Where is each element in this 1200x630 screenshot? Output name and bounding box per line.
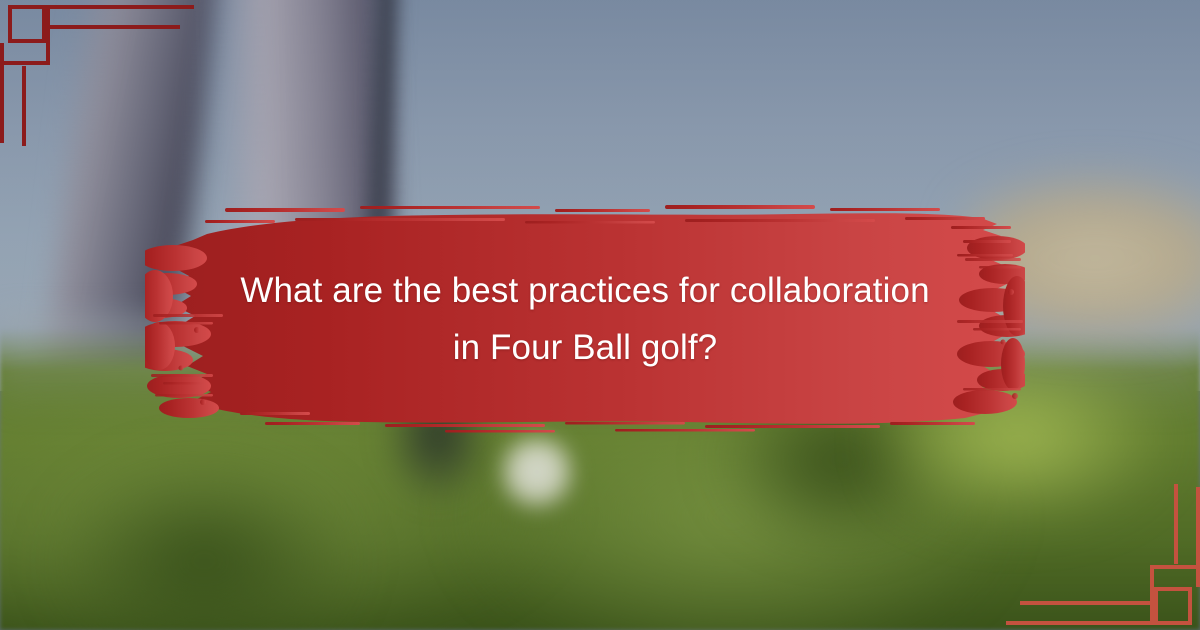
corner-line-elbow-vertical (46, 5, 50, 65)
corner-square-icon (1154, 587, 1192, 625)
corner-line-vertical-inner (1174, 484, 1178, 564)
corner-line-horizontal-inner (1020, 601, 1154, 605)
corner-line-vertical-outer (0, 43, 4, 143)
corner-ornament-top-left (0, 0, 160, 160)
corner-line-elbow-horizontal (1150, 565, 1196, 569)
corner-square-icon (8, 5, 46, 43)
corner-line-elbow-horizontal (4, 61, 50, 65)
headline-line-1: What are the best practices for collabor… (150, 262, 1020, 319)
page-title: What are the best practices for collabor… (150, 262, 1020, 376)
corner-line-elbow-vertical (1150, 565, 1154, 625)
headline-line-2: in Four Ball golf? (150, 319, 1020, 376)
corner-line-vertical-outer (1196, 487, 1200, 587)
corner-ornament-bottom-right (1040, 470, 1200, 630)
corner-line-horizontal-inner (46, 25, 180, 29)
corner-line-vertical-inner (22, 66, 26, 146)
corner-line-horizontal-outer (46, 5, 194, 9)
corner-line-horizontal-outer (1006, 621, 1154, 625)
